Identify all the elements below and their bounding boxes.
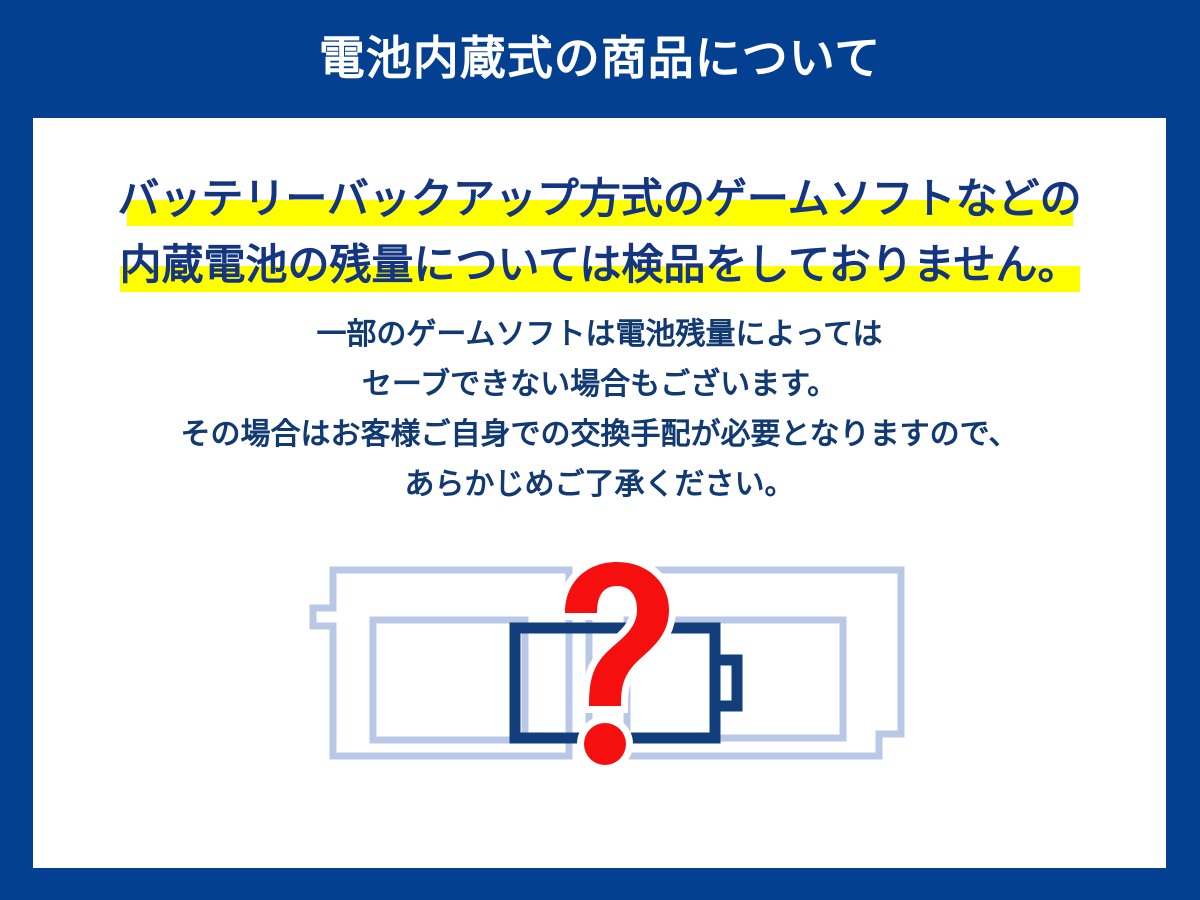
header-band: 電池内蔵式の商品について (0, 0, 1200, 118)
body-line-3: その場合はお客様ご自身での交換手配が必要となりますので、 (33, 410, 1166, 460)
body-line-4: あらかじめご了承ください。 (33, 460, 1166, 510)
page-title: 電池内蔵式の商品について (0, 28, 1200, 88)
headline-text-2: 内蔵電池の残量については検品をしておりません。 (119, 232, 1079, 298)
body-line-1: 一部のゲームソフトは電池残量によっては (33, 310, 1166, 360)
headline-line-1: バッテリーバックアップ方式のゲームソフトなどの (33, 166, 1166, 232)
headline-block: バッテリーバックアップ方式のゲームソフトなどの 内蔵電池の残量については検品をし… (33, 166, 1166, 298)
headline-line-2: 内蔵電池の残量については検品をしておりません。 (33, 232, 1166, 298)
body-line-2: セーブできない場合もございます。 (33, 360, 1166, 410)
content-card: バッテリーバックアップ方式のゲームソフトなどの 内蔵電池の残量については検品をし… (33, 118, 1166, 868)
battery-cartridge-illustration (289, 548, 929, 788)
left-cartridge-icon (313, 570, 569, 756)
slide-root: 電池内蔵式の商品について バッテリーバックアップ方式のゲームソフトなどの 内蔵電… (0, 0, 1200, 900)
headline-text-1: バッテリーバックアップ方式のゲームソフトなどの (117, 166, 1081, 232)
body-paragraph: 一部のゲームソフトは電池残量によっては セーブできない場合もございます。 その場… (33, 310, 1166, 510)
